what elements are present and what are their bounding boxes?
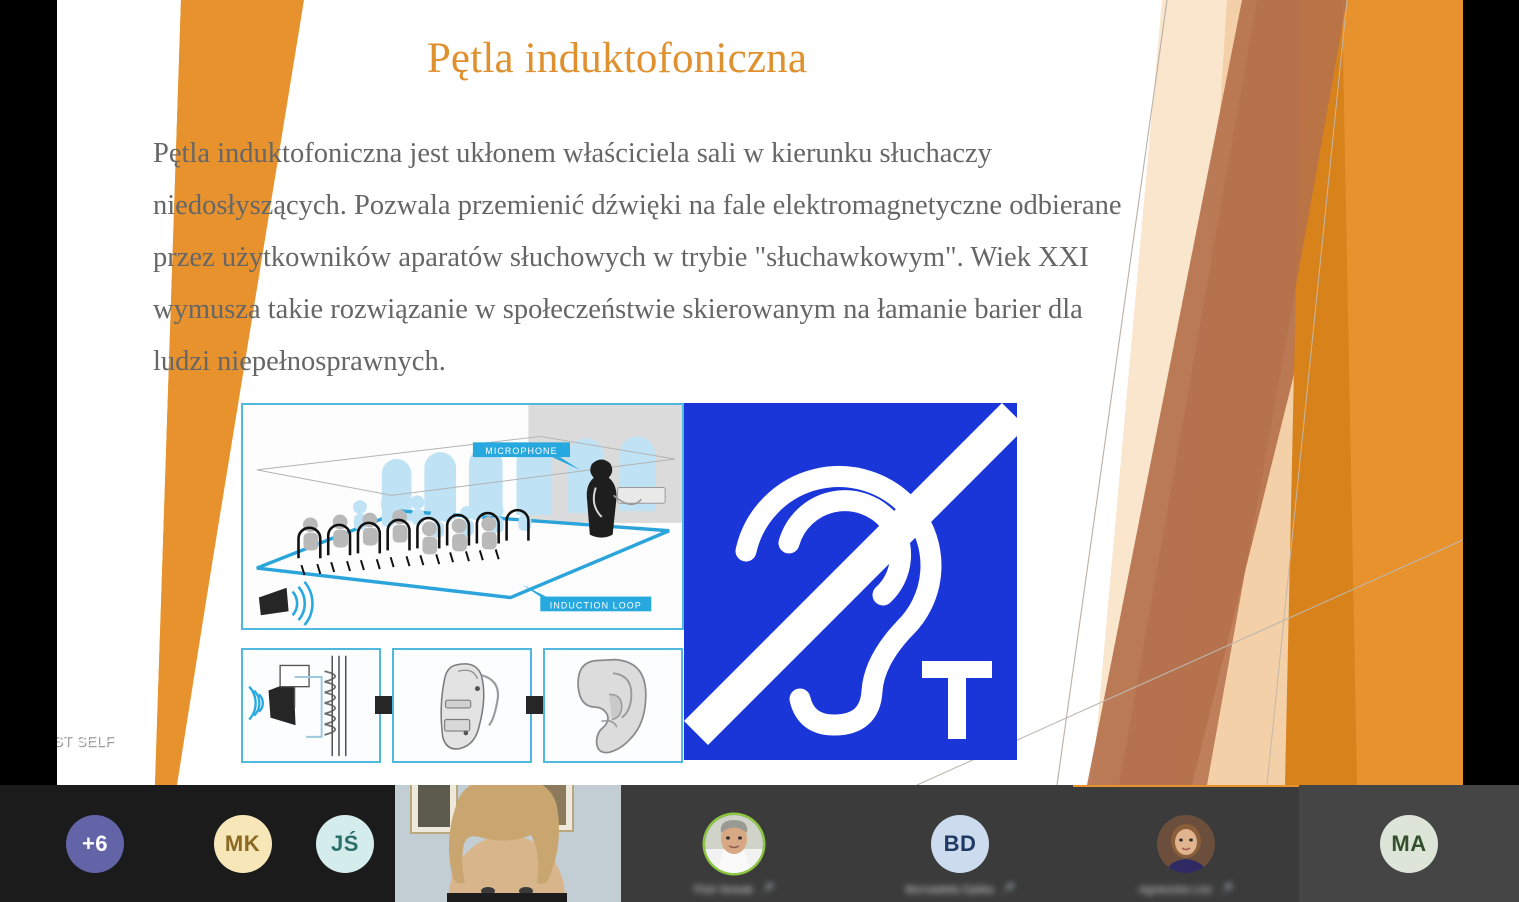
hearing-loop-symbol <box>684 403 1017 760</box>
avatar: MK <box>214 815 272 873</box>
presentation-slide: Pętla induktofoniczna Pętla induktofonic… <box>57 0 1463 785</box>
participant-js[interactable]: JŚ <box>295 785 395 902</box>
overflow-participants[interactable]: +6 <box>0 785 190 902</box>
watermark-label: CST SELF <box>57 734 114 750</box>
microphone-icon: 🎤 <box>760 883 774 896</box>
avatar: JŚ <box>316 815 374 873</box>
participant-ma[interactable]: MA <box>1299 785 1519 902</box>
microphone-icon: 🎤 <box>1001 883 1015 896</box>
video-feed <box>395 785 621 902</box>
participant-bd[interactable]: BDBernadetta Dybka🎤 <box>847 785 1073 902</box>
participant-mk[interactable]: MK <box>190 785 295 902</box>
meeting-screen-share-view: Pętla induktofoniczna Pętla induktofonic… <box>0 0 1519 902</box>
participant-name-label: Piotr Nowak🎤 <box>621 883 847 896</box>
avatar: BD <box>931 815 989 873</box>
shared-content-stage: Pętla induktofoniczna Pętla induktofonic… <box>0 0 1519 785</box>
lecture-room-diagram: MICROPHONE INDUCTION LOOP <box>241 403 684 630</box>
induction-loop-illustration: MICROPHONE INDUCTION LOOP <box>241 403 684 763</box>
avatar <box>1157 815 1215 873</box>
panel-ear <box>543 648 683 763</box>
participant-photo-1[interactable]: Piotr Nowak🎤 <box>621 785 847 902</box>
participant-name-label: Bernadetta Dybka🎤 <box>847 883 1073 896</box>
avatar <box>705 815 763 873</box>
tile-top-accent <box>1073 785 1299 787</box>
panel-amplifier-coil <box>241 648 381 763</box>
participant-photo-2[interactable]: Agnieszka Lisz🎤 <box>1073 785 1299 902</box>
slide-body-text: Pętla induktofoniczna jest ukłonem właśc… <box>153 128 1131 388</box>
signal-flow-panels <box>241 648 684 763</box>
slide-figure: MICROPHONE INDUCTION LOOP <box>241 403 1017 763</box>
flow-arrow-2 <box>532 648 543 763</box>
avatar: +6 <box>66 815 124 873</box>
amplifier-coil-svg <box>243 650 379 761</box>
flow-arrow-1 <box>381 648 392 763</box>
participant-roster: +6MKJŚPiotr Nowak🎤BDBernadetta Dybka🎤Agn… <box>0 785 1519 902</box>
room-scene-svg: MICROPHONE INDUCTION LOOP <box>243 405 682 628</box>
svg-text:INDUCTION LOOP: INDUCTION LOOP <box>550 600 642 610</box>
svg-text:MICROPHONE: MICROPHONE <box>485 446 557 456</box>
ear-svg <box>545 650 681 761</box>
panel-hearing-aid <box>392 648 532 763</box>
slide-paragraph: Pętla induktofoniczna jest ukłonem właśc… <box>153 128 1131 388</box>
hearing-aid-svg <box>394 650 530 761</box>
avatar: MA <box>1380 815 1438 873</box>
participant-name-label: Agnieszka Lisz🎤 <box>1073 883 1299 896</box>
participant-video[interactable] <box>395 785 621 902</box>
telecoil-symbol-svg <box>684 403 1017 760</box>
microphone-icon: 🎤 <box>1219 883 1233 896</box>
slide-title: Pętla induktofoniczna <box>117 34 1117 83</box>
